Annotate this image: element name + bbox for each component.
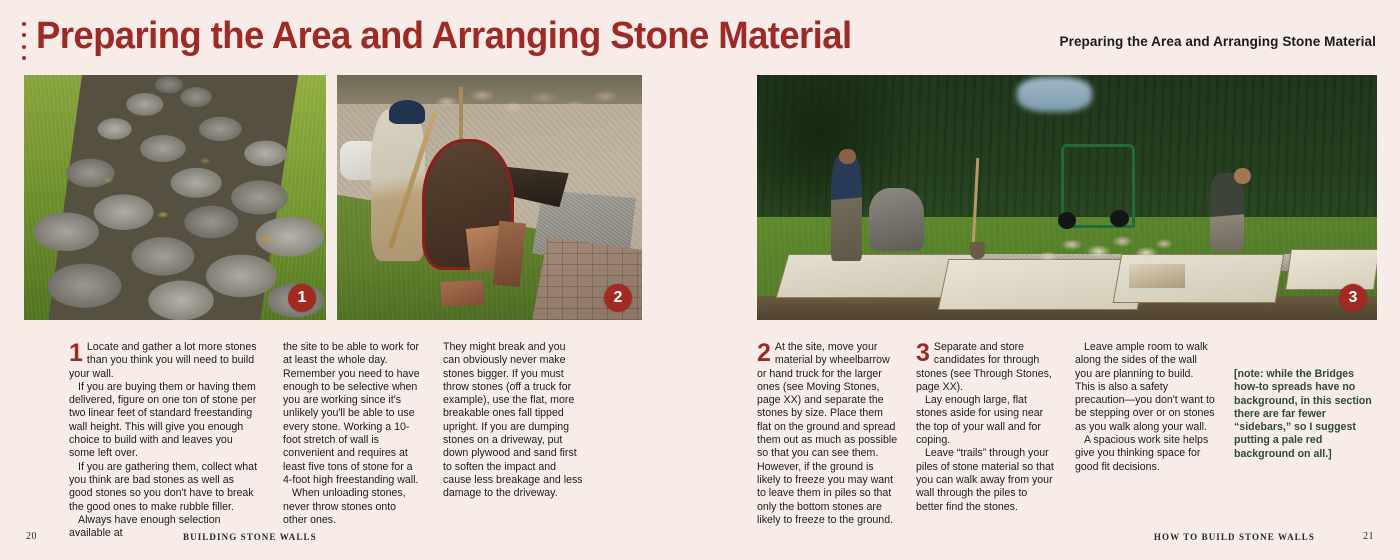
photo-3-wheelbarrow <box>869 188 925 252</box>
photo-2-stone-c <box>440 280 484 307</box>
photo-3-stone-pile <box>1030 227 1179 269</box>
paragraph-text: Separate and store candidates for throug… <box>916 341 1052 393</box>
photo-badge-1: 1 <box>288 284 316 312</box>
paragraph-text: Locate and gather a lot more stones than… <box>69 341 257 380</box>
title-bullet-dots-icon <box>20 22 27 60</box>
photo-2-rubble-stones <box>416 75 636 129</box>
paragraph: When unloading stones, never throw stone… <box>283 487 423 527</box>
photo-2-worker-cap <box>389 100 426 125</box>
photo-3-worker-right-head <box>1234 168 1250 184</box>
photo-work-site: 3 <box>757 75 1377 320</box>
photo-3-worker-right <box>1210 173 1244 251</box>
paragraph: If you are gathering them, collect what … <box>69 461 259 514</box>
running-head: Preparing the Area and Arranging Stone M… <box>1059 34 1376 49</box>
paragraph: 3Separate and store candidates for throu… <box>916 341 1056 394</box>
footer-running-text-left: BUILDING STONE WALLS <box>183 532 317 542</box>
photo-3-worker-left <box>831 153 862 261</box>
text-column-3: They might break and you can obviously n… <box>443 341 583 501</box>
photo-3-large-stone <box>1129 264 1185 289</box>
paragraph: 1Locate and gather a lot more stones tha… <box>69 341 259 381</box>
paragraph: A spacious work site helps give you thin… <box>1075 434 1215 474</box>
book-spread: Preparing the Area and Arranging Stone M… <box>0 0 1400 560</box>
paragraph: the site to be able to work for at least… <box>283 341 423 487</box>
paragraph-text: At the site, move your material by wheel… <box>757 341 897 526</box>
page-header: Preparing the Area and Arranging Stone M… <box>0 0 1400 72</box>
paragraph: Leave ample room to walk along the sides… <box>1075 341 1215 434</box>
paragraph: They might break and you can obviously n… <box>443 341 583 501</box>
footer-running-text-right: HOW TO BUILD STONE WALLS <box>1154 532 1315 542</box>
drop-cap-number: 2 <box>757 342 771 364</box>
paragraph: Lay enough large, flat stones aside for … <box>916 394 1056 447</box>
photo-3-plywood-4 <box>1285 249 1377 290</box>
text-column-5: 3Separate and store candidates for throu… <box>916 341 1056 514</box>
editorial-note-text: [note: while the Bridges how-to spreads … <box>1234 368 1376 461</box>
text-column-2: the site to be able to work for at least… <box>283 341 423 527</box>
text-column-6: Leave ample room to walk along the sides… <box>1075 341 1215 474</box>
text-column-1: 1Locate and gather a lot more stones tha… <box>69 341 259 540</box>
photo-badge-3: 3 <box>1339 284 1367 312</box>
text-column-4: 2At the site, move your material by whee… <box>757 341 899 527</box>
photo-1-lichen <box>24 75 326 320</box>
photo-stone-pile: 1 <box>24 75 326 320</box>
paragraph: If you are buying them or having them de… <box>69 381 259 461</box>
photo-3-hand-truck-wheel-right <box>1110 210 1129 227</box>
photo-2-worker <box>371 109 426 261</box>
drop-cap-number: 3 <box>916 342 930 364</box>
page-number-right: 21 <box>1363 531 1374 542</box>
paragraph: 2At the site, move your material by whee… <box>757 341 899 527</box>
photo-3-worker-left-head <box>839 149 855 165</box>
paragraph: Leave “trails” through your piles of sto… <box>916 447 1056 513</box>
photo-wheelbarrow-worker: 2 <box>337 75 642 320</box>
photo-badge-2: 2 <box>604 284 632 312</box>
chapter-title: Preparing the Area and Arranging Stone M… <box>36 12 852 60</box>
photo-3-sky-gap <box>1017 77 1091 111</box>
photo-3-shovel-blade <box>970 242 985 259</box>
drop-cap-number: 1 <box>69 342 83 364</box>
editorial-note-column: [note: while the Bridges how-to spreads … <box>1234 368 1376 461</box>
page-number-left: 20 <box>26 531 37 542</box>
